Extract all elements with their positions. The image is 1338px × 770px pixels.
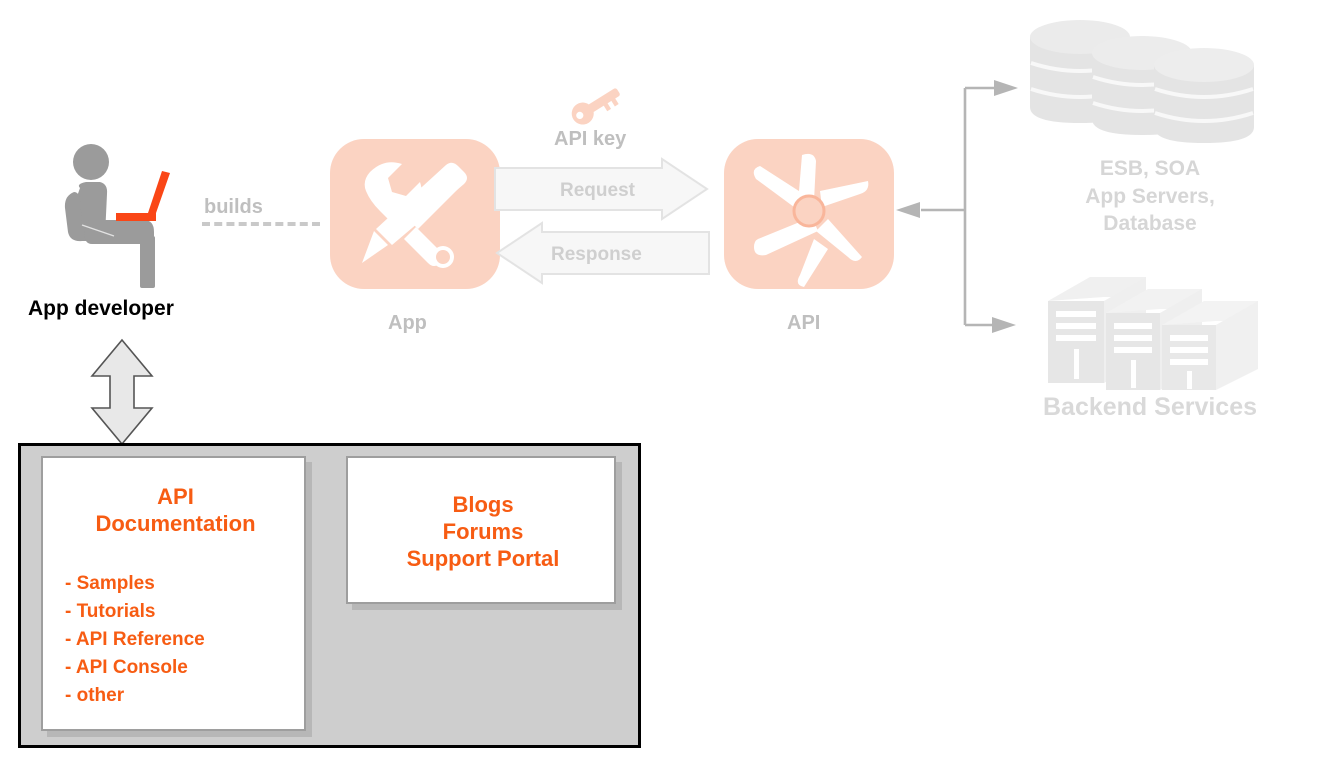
database-label: ESB, SOA App Servers, Database: [1020, 155, 1280, 238]
key-icon: [566, 86, 630, 122]
list-item[interactable]: - API Console: [65, 654, 205, 682]
response-label: Response: [551, 244, 642, 266]
database-label-line-3: Database: [1020, 210, 1280, 238]
list-item[interactable]: - API Reference: [65, 626, 205, 654]
arrowhead-to-backend-services: [992, 317, 1016, 333]
list-item[interactable]: - Samples: [65, 570, 205, 598]
community-card-text: Blogs Forums Support Portal: [348, 492, 618, 572]
arrowhead-to-api: [896, 202, 920, 218]
list-item[interactable]: - other: [65, 682, 205, 710]
app-tile[interactable]: [330, 139, 500, 289]
developer-portal-double-arrow: [88, 338, 156, 446]
diagram-canvas: App developer builds App: [0, 0, 1338, 770]
builds-label: builds: [204, 196, 263, 219]
database-stack-icon: [1024, 15, 1274, 145]
seated-developer-icon: [52, 140, 182, 290]
api-key-label: API key: [554, 128, 626, 151]
api-label: API: [787, 312, 820, 335]
request-label: Request: [560, 180, 635, 202]
backend-services-label: Backend Services: [1010, 393, 1290, 422]
list-item[interactable]: - Tutorials: [65, 598, 205, 626]
api-documentation-card[interactable]: API Documentation - Samples - Tutorials …: [41, 456, 306, 731]
community-card-line-2: Forums: [348, 519, 618, 546]
app-developer-label: App developer: [28, 297, 174, 321]
developer-portal-panel: API Documentation - Samples - Tutorials …: [18, 443, 641, 748]
database-label-line-1: ESB, SOA: [1020, 155, 1280, 183]
api-documentation-title: API Documentation: [43, 484, 308, 538]
app-label: App: [388, 312, 427, 335]
dashed-connector-icon: [202, 222, 320, 226]
api-tile[interactable]: [724, 139, 894, 289]
community-card-line-3: Support Portal: [348, 546, 618, 573]
api-documentation-title-line-1: API: [43, 484, 308, 511]
server-racks-icon: [1030, 265, 1270, 390]
api-documentation-item-list: - Samples - Tutorials - API Reference - …: [65, 570, 205, 710]
community-card[interactable]: Blogs Forums Support Portal: [346, 456, 616, 604]
api-documentation-title-line-2: Documentation: [43, 511, 308, 538]
arrowhead-to-database: [994, 80, 1018, 96]
database-label-line-2: App Servers,: [1020, 183, 1280, 211]
community-card-line-1: Blogs: [348, 492, 618, 519]
